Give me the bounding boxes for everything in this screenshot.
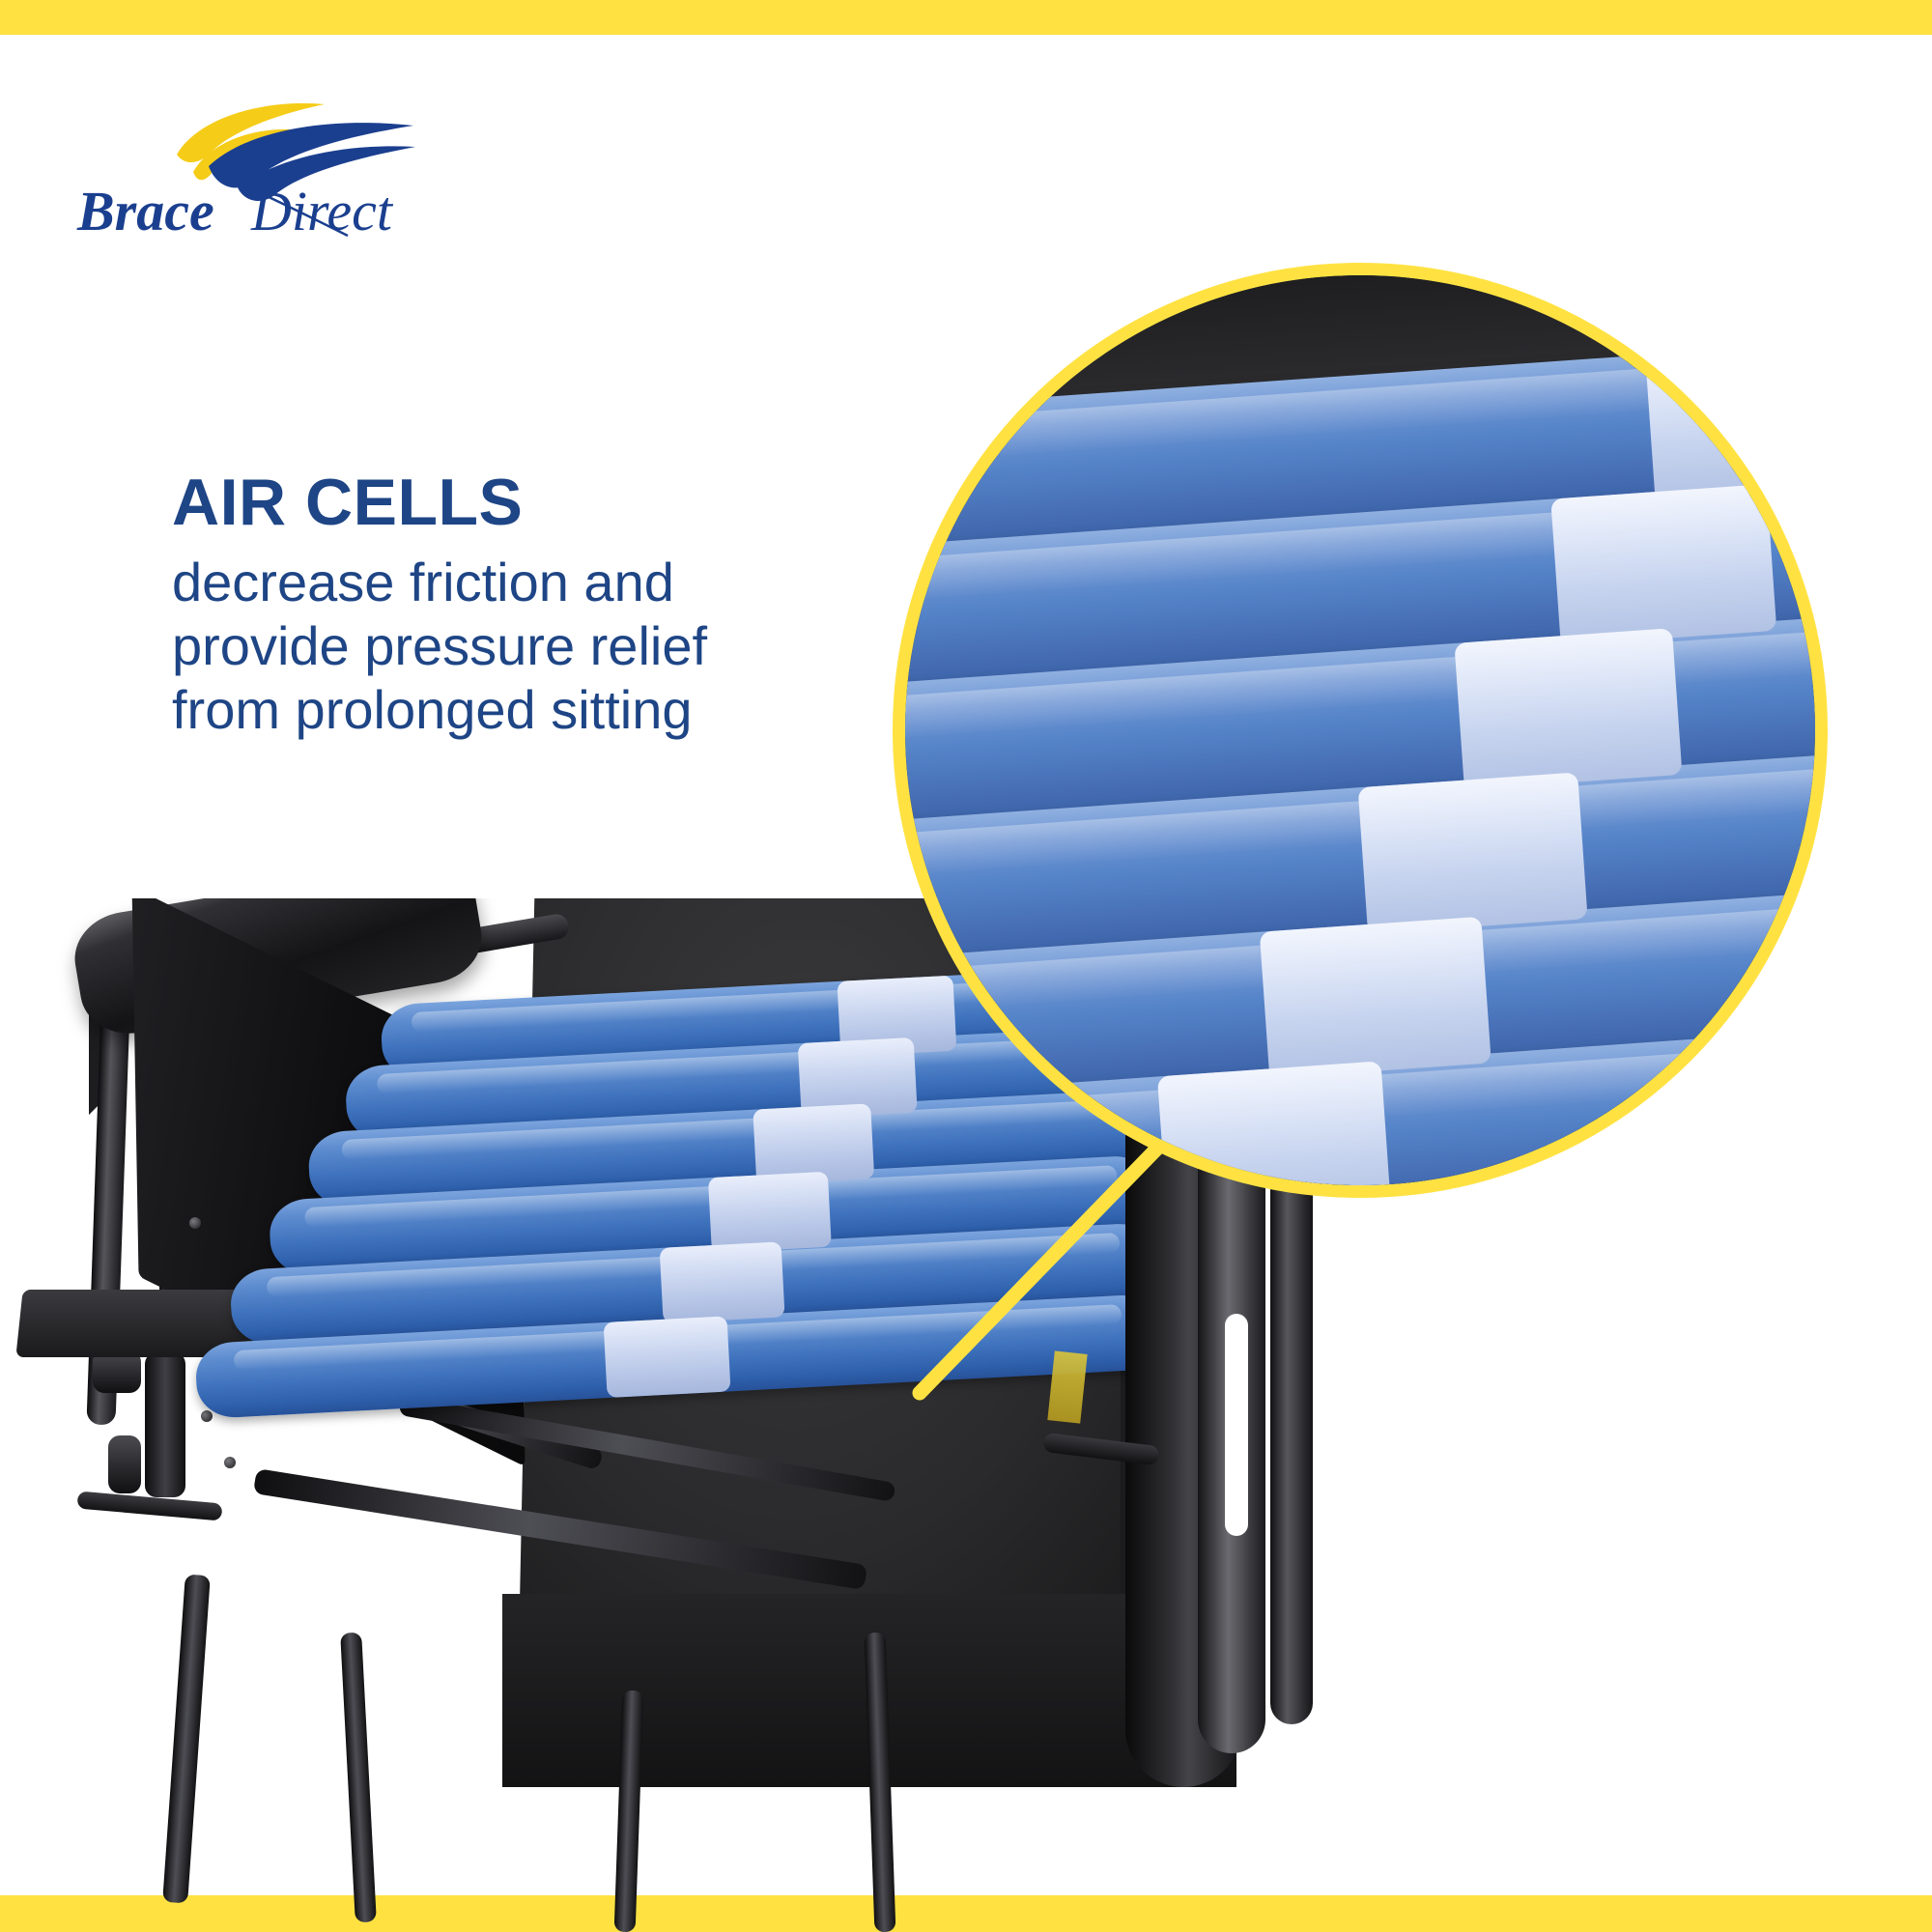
air-cell-closeup-callout: [893, 263, 1828, 1198]
reflective-band-magnified: [1454, 628, 1682, 789]
reflective-band-magnified: [1550, 484, 1776, 645]
closeup-content: [893, 263, 1828, 1198]
brace-direct-logo: Brace Direct: [75, 93, 520, 238]
logo-word-brace: Brace: [76, 180, 214, 238]
caster-mount-post: [145, 1352, 185, 1497]
wheel-spoke-gap: [1225, 1314, 1248, 1536]
reflective-band-magnified: [1358, 772, 1588, 934]
reflective-band-magnified: [1260, 917, 1492, 1079]
air-cell-reflective-band: [660, 1241, 785, 1322]
air-cell-reflective-band: [708, 1172, 832, 1253]
feature-headline: AIR CELLS: [172, 469, 906, 535]
feature-body-copy: decrease friction and provide pressure r…: [172, 551, 906, 742]
frame-tube-rear-vertical: [340, 1633, 377, 1923]
reflective-band-magnified: [1645, 340, 1828, 501]
frame-tube-front-vertical: [162, 1575, 211, 1904]
armrest-clamp: [108, 1435, 141, 1493]
reflective-band-magnified: [1157, 1061, 1391, 1198]
marketing-image-canvas: Brace Direct AIR CELLS decrease friction…: [0, 0, 1932, 1932]
top-accent-bar: [0, 0, 1932, 35]
logo-word-direct: Direct: [250, 180, 394, 238]
air-cell-reflective-band: [604, 1316, 731, 1398]
feature-text-block: AIR CELLS decrease friction and provide …: [172, 469, 906, 742]
